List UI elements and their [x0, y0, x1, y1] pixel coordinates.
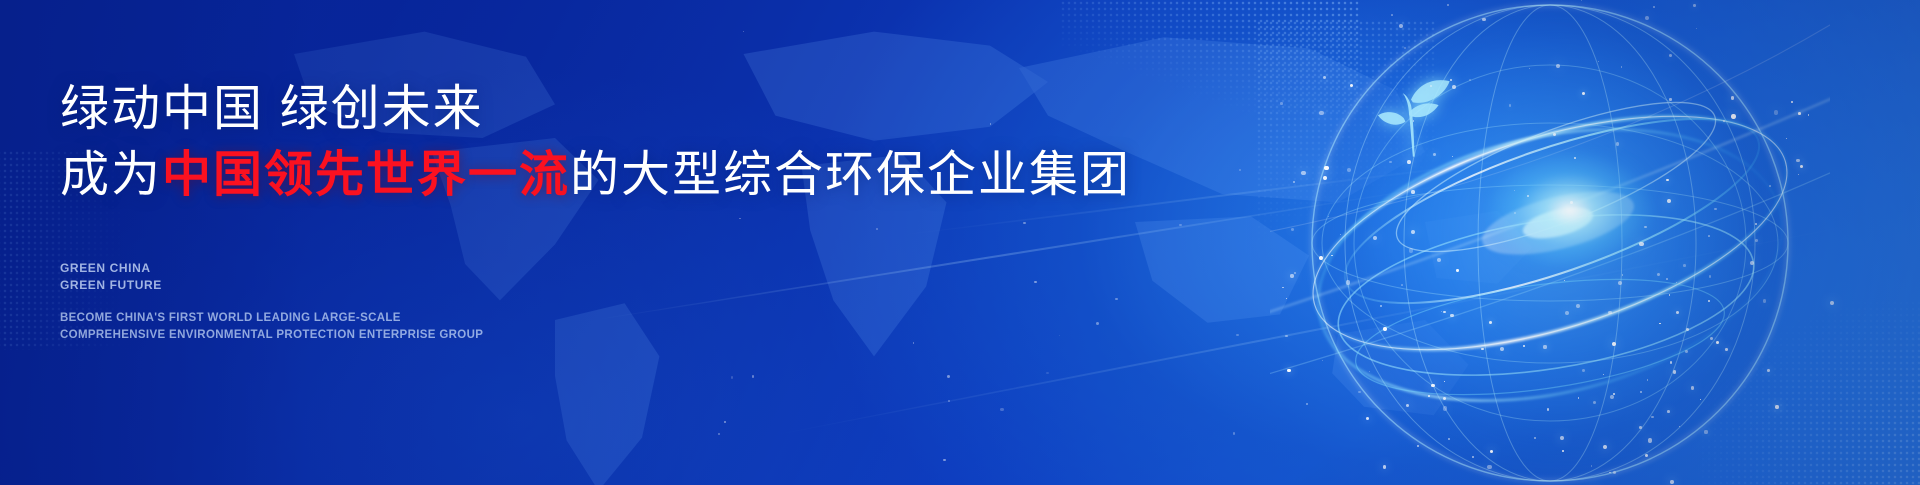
sparkle-particle — [1670, 361, 1673, 364]
sparkle-particle — [1608, 311, 1612, 315]
sparkle-particle — [1659, 323, 1660, 324]
sparkle-particle — [1389, 161, 1391, 163]
subtitle-english: GREEN CHINA GREEN FUTURE — [60, 260, 162, 295]
sparkle-particle — [1808, 114, 1810, 116]
sparkle-particle — [1676, 311, 1679, 314]
sparkle-particle — [1666, 278, 1668, 280]
sparkle-particle — [1714, 208, 1717, 211]
sparkle-particle — [1323, 76, 1326, 79]
sparkle-particle — [1514, 190, 1515, 191]
headline-line-2-suffix: 的大型综合环保企业集团 — [570, 148, 1131, 202]
sparkle-particle — [1603, 374, 1604, 375]
sparkle-particle — [1456, 269, 1458, 271]
sparkle-particle — [1239, 169, 1241, 171]
sparkle-particle — [1708, 235, 1710, 237]
sparkle-particle — [1324, 166, 1329, 171]
sparkle-particle — [1673, 370, 1677, 374]
sparkle-particle — [1683, 264, 1686, 267]
sparkle-particle — [1369, 371, 1370, 372]
sparkle-particle — [1666, 179, 1669, 182]
sparkle-particle — [1679, 426, 1680, 427]
sparkle-particle — [1786, 138, 1787, 139]
sparkle-particle — [1411, 190, 1415, 194]
sparkle-particle — [1774, 110, 1779, 115]
sparkle-particle — [1383, 465, 1387, 469]
sparkle-particle — [1755, 239, 1758, 242]
globe-graphic — [1270, 0, 1830, 485]
sparkle-particle — [1322, 360, 1323, 361]
sparkle-particle — [1669, 98, 1671, 100]
sparkle-particle — [1565, 311, 1569, 315]
sparkle-particle — [1578, 397, 1579, 398]
tagline-english-line-1: BECOME CHINA'S FIRST WORLD LEADING LARGE… — [60, 310, 483, 327]
sparkle-particle — [1443, 311, 1446, 314]
sparkle-particle — [1685, 350, 1688, 353]
banner-copy: 绿动中国 绿创未来 成为中国领先世界一流的大型综合环保企业集团 GREEN CH… — [0, 0, 1100, 485]
globe-core-glow — [1485, 150, 1655, 270]
sparkle-particle — [1576, 304, 1580, 308]
sparkle-particle — [1115, 298, 1118, 301]
sparkle-particle — [1407, 160, 1411, 164]
sparkle-particle — [1691, 386, 1694, 389]
sparkle-particle — [1570, 201, 1573, 204]
sparkle-particle — [1616, 142, 1619, 145]
sparkle-particle — [1450, 79, 1452, 81]
sparkle-particle — [1560, 436, 1564, 440]
sparkle-particle — [1291, 228, 1294, 231]
sparkle-particle — [1767, 369, 1770, 372]
sparkle-particle — [1598, 61, 1599, 62]
sparkle-particle — [1670, 480, 1674, 484]
sparkle-particle — [1447, 4, 1449, 6]
sparkle-particle — [1610, 395, 1615, 400]
sparkle-particle — [1286, 298, 1287, 299]
sparkle-particle — [1233, 432, 1236, 435]
sparkle-particle — [1437, 258, 1441, 262]
sparkle-particle — [1448, 438, 1450, 440]
sparkle-particle — [1452, 85, 1456, 89]
sparkle-particle — [1556, 64, 1560, 68]
headline: 绿动中国 绿创未来 成为中国领先世界一流的大型综合环保企业集团 — [60, 78, 1131, 206]
sparkle-particle — [1509, 104, 1512, 107]
sparkle-particle — [1306, 403, 1308, 405]
sparkle-particle — [1669, 54, 1672, 57]
sparkle-particle — [1667, 199, 1671, 203]
sparkle-particle — [1179, 224, 1181, 226]
sparkle-particle — [1716, 341, 1719, 344]
headline-line-2-prefix: 成为 — [60, 148, 162, 202]
sparkle-particle — [1667, 410, 1670, 413]
sparkle-particle — [1469, 79, 1471, 81]
sparkle-particle — [1411, 230, 1415, 234]
sparkle-particle — [1591, 465, 1592, 466]
sparkle-particle — [1328, 216, 1329, 217]
hero-banner: 绿动中国 绿创未来 成为中国领先世界一流的大型综合环保企业集团 GREEN CH… — [0, 0, 1920, 485]
sparkle-particle — [1669, 294, 1671, 296]
sparkle-particle — [1282, 287, 1284, 289]
sparkle-particle — [1622, 274, 1623, 275]
sparkle-particle — [1755, 223, 1757, 225]
sparkle-particle — [1564, 280, 1565, 281]
sparkle-particle — [1653, 6, 1655, 8]
headline-line-2-accent: 中国领先世界一流 — [162, 148, 570, 202]
sparkle-particle — [1490, 450, 1493, 453]
globe-icon — [1270, 0, 1830, 485]
sparkle-particle — [1347, 168, 1351, 172]
sparkle-particle — [1547, 408, 1549, 410]
sparkle-particle — [1401, 284, 1403, 286]
globe-glow — [1310, 5, 1790, 485]
sparkle-particle — [1709, 275, 1711, 277]
sparkle-particle — [1358, 391, 1360, 393]
sparkle-particle — [1319, 256, 1323, 260]
sparkle-particle — [1648, 438, 1652, 442]
sparkle-particle — [1350, 84, 1353, 87]
sparkle-particle — [1543, 345, 1546, 348]
sparkle-particle — [1562, 450, 1564, 452]
sparkle-particle — [1380, 305, 1381, 306]
sparkle-particle — [1373, 236, 1377, 240]
sparkle-particle — [1487, 465, 1491, 469]
sparkle-particle — [1529, 68, 1531, 70]
sparkle-particle — [1710, 337, 1713, 340]
sparkle-particle — [1366, 417, 1370, 421]
sparkle-particle — [1696, 28, 1697, 29]
sparkle-particle — [1399, 24, 1403, 28]
sparkle-particle — [1290, 274, 1293, 277]
sparkle-particle — [1798, 112, 1801, 115]
sparkle-particle — [1287, 369, 1290, 372]
sparkle-particle — [1433, 153, 1436, 156]
sparkle-particle — [1609, 472, 1611, 474]
sparkle-particle — [1639, 426, 1642, 429]
sparkle-particle — [1708, 300, 1710, 302]
sparkle-particle — [1444, 381, 1445, 382]
sparkle-particle — [1431, 384, 1435, 388]
sparkle-particle — [1796, 159, 1800, 163]
sparkle-particle — [1482, 18, 1486, 22]
sparkle-particle — [1731, 114, 1736, 119]
sparkle-particle — [1644, 226, 1646, 228]
sparkle-particle — [1725, 348, 1728, 351]
sparkle-particle — [1582, 92, 1585, 95]
sparkle-particle — [1452, 156, 1454, 158]
sparkle-particle — [1651, 416, 1653, 418]
tagline-english-line-2: COMPREHENSIVE ENVIRONMENTAL PROTECTION E… — [60, 327, 483, 344]
sparkle-particle — [1723, 120, 1725, 122]
sparkle-particle — [1800, 165, 1803, 168]
sparkle-particle — [1280, 102, 1283, 105]
sparkle-particle — [1301, 171, 1305, 175]
headline-line-1: 绿动中国 绿创未来 — [60, 82, 484, 136]
sparkle-particle — [1603, 445, 1607, 449]
sparkle-particle — [1417, 445, 1419, 447]
sparkle-particle — [1704, 430, 1707, 433]
sparkle-particle — [1618, 281, 1622, 285]
sparkle-particle — [1472, 456, 1475, 459]
sparkle-particle — [1769, 185, 1771, 187]
sparkle-particle — [1613, 471, 1616, 474]
sparkle-particle — [1406, 404, 1409, 407]
sparkle-particle — [1294, 272, 1296, 274]
sparkle-particle — [1450, 314, 1454, 318]
sparkle-particle — [1582, 369, 1585, 372]
sparkle-particle — [1731, 96, 1735, 100]
sparkle-particle — [1645, 16, 1649, 20]
sparkle-particle — [1693, 4, 1696, 7]
sparkle-particle — [1527, 195, 1529, 197]
sparkle-particle — [1236, 334, 1238, 336]
sparkle-particle — [1340, 234, 1341, 235]
sparkle-particle — [1645, 454, 1648, 457]
sparkle-particle — [1514, 212, 1516, 214]
tagline-english: BECOME CHINA'S FIRST WORLD LEADING LARGE… — [60, 310, 483, 345]
sparkle-particle — [1391, 14, 1393, 16]
sparkle-particle — [1593, 401, 1596, 404]
sparkle-particle — [1413, 120, 1414, 121]
sparkle-particle — [1639, 242, 1643, 246]
sparkle-particle — [1775, 405, 1778, 408]
sparkle-particle — [1428, 395, 1430, 397]
sparkle-particle — [1523, 345, 1525, 347]
sparkle-particle — [1331, 255, 1332, 256]
subtitle-english-line-2: GREEN FUTURE — [60, 277, 162, 294]
headline-line-2: 成为中国领先世界一流的大型综合环保企业集团 — [60, 144, 1131, 207]
sparkle-particle — [1613, 393, 1615, 395]
sparkle-particle — [1319, 111, 1323, 115]
sparkle-particle — [1404, 47, 1405, 48]
sparkle-particle — [1612, 342, 1616, 346]
sparkle-particle — [1489, 321, 1492, 324]
sparkle-particle — [1621, 66, 1623, 68]
sparkle-particle — [1346, 280, 1350, 284]
sparkle-particle — [1791, 101, 1793, 103]
sparkle-particle — [1323, 176, 1327, 180]
sparkle-particle — [1798, 174, 1799, 175]
sparkle-particle — [1830, 301, 1834, 305]
sparkle-particle — [1430, 85, 1431, 86]
sparkle-particle — [1700, 399, 1702, 401]
sparkle-particle — [1383, 327, 1387, 331]
sparkle-particle — [1647, 379, 1648, 380]
sparkle-particle — [1574, 157, 1576, 159]
sprout-icon — [1365, 70, 1457, 166]
sparkle-particle — [1640, 391, 1642, 393]
sparkle-particle — [1553, 133, 1556, 136]
sparkle-particle — [1481, 348, 1484, 351]
sparkle-particle — [1443, 397, 1446, 400]
sparkle-particle — [1293, 181, 1295, 183]
sparkle-particle — [1581, 0, 1582, 1]
sparkle-particle — [1686, 328, 1689, 331]
sparkle-particle — [1534, 437, 1536, 439]
sparkle-particle — [1409, 248, 1413, 252]
dot-grid-patch — [1256, 20, 1436, 280]
sparkle-particle — [1763, 299, 1767, 303]
sparkle-particle — [1676, 282, 1677, 283]
sparkle-particle — [1500, 347, 1504, 351]
sparkle-particle — [1750, 261, 1754, 265]
dot-grid-patch — [1700, 300, 1920, 485]
subtitle-english-line-1: GREEN CHINA — [60, 260, 162, 277]
sparkle-particle — [1443, 406, 1447, 410]
sparkle-particle — [1441, 311, 1442, 312]
sparkle-particle — [1657, 273, 1660, 276]
sparkle-particle — [1285, 335, 1288, 338]
